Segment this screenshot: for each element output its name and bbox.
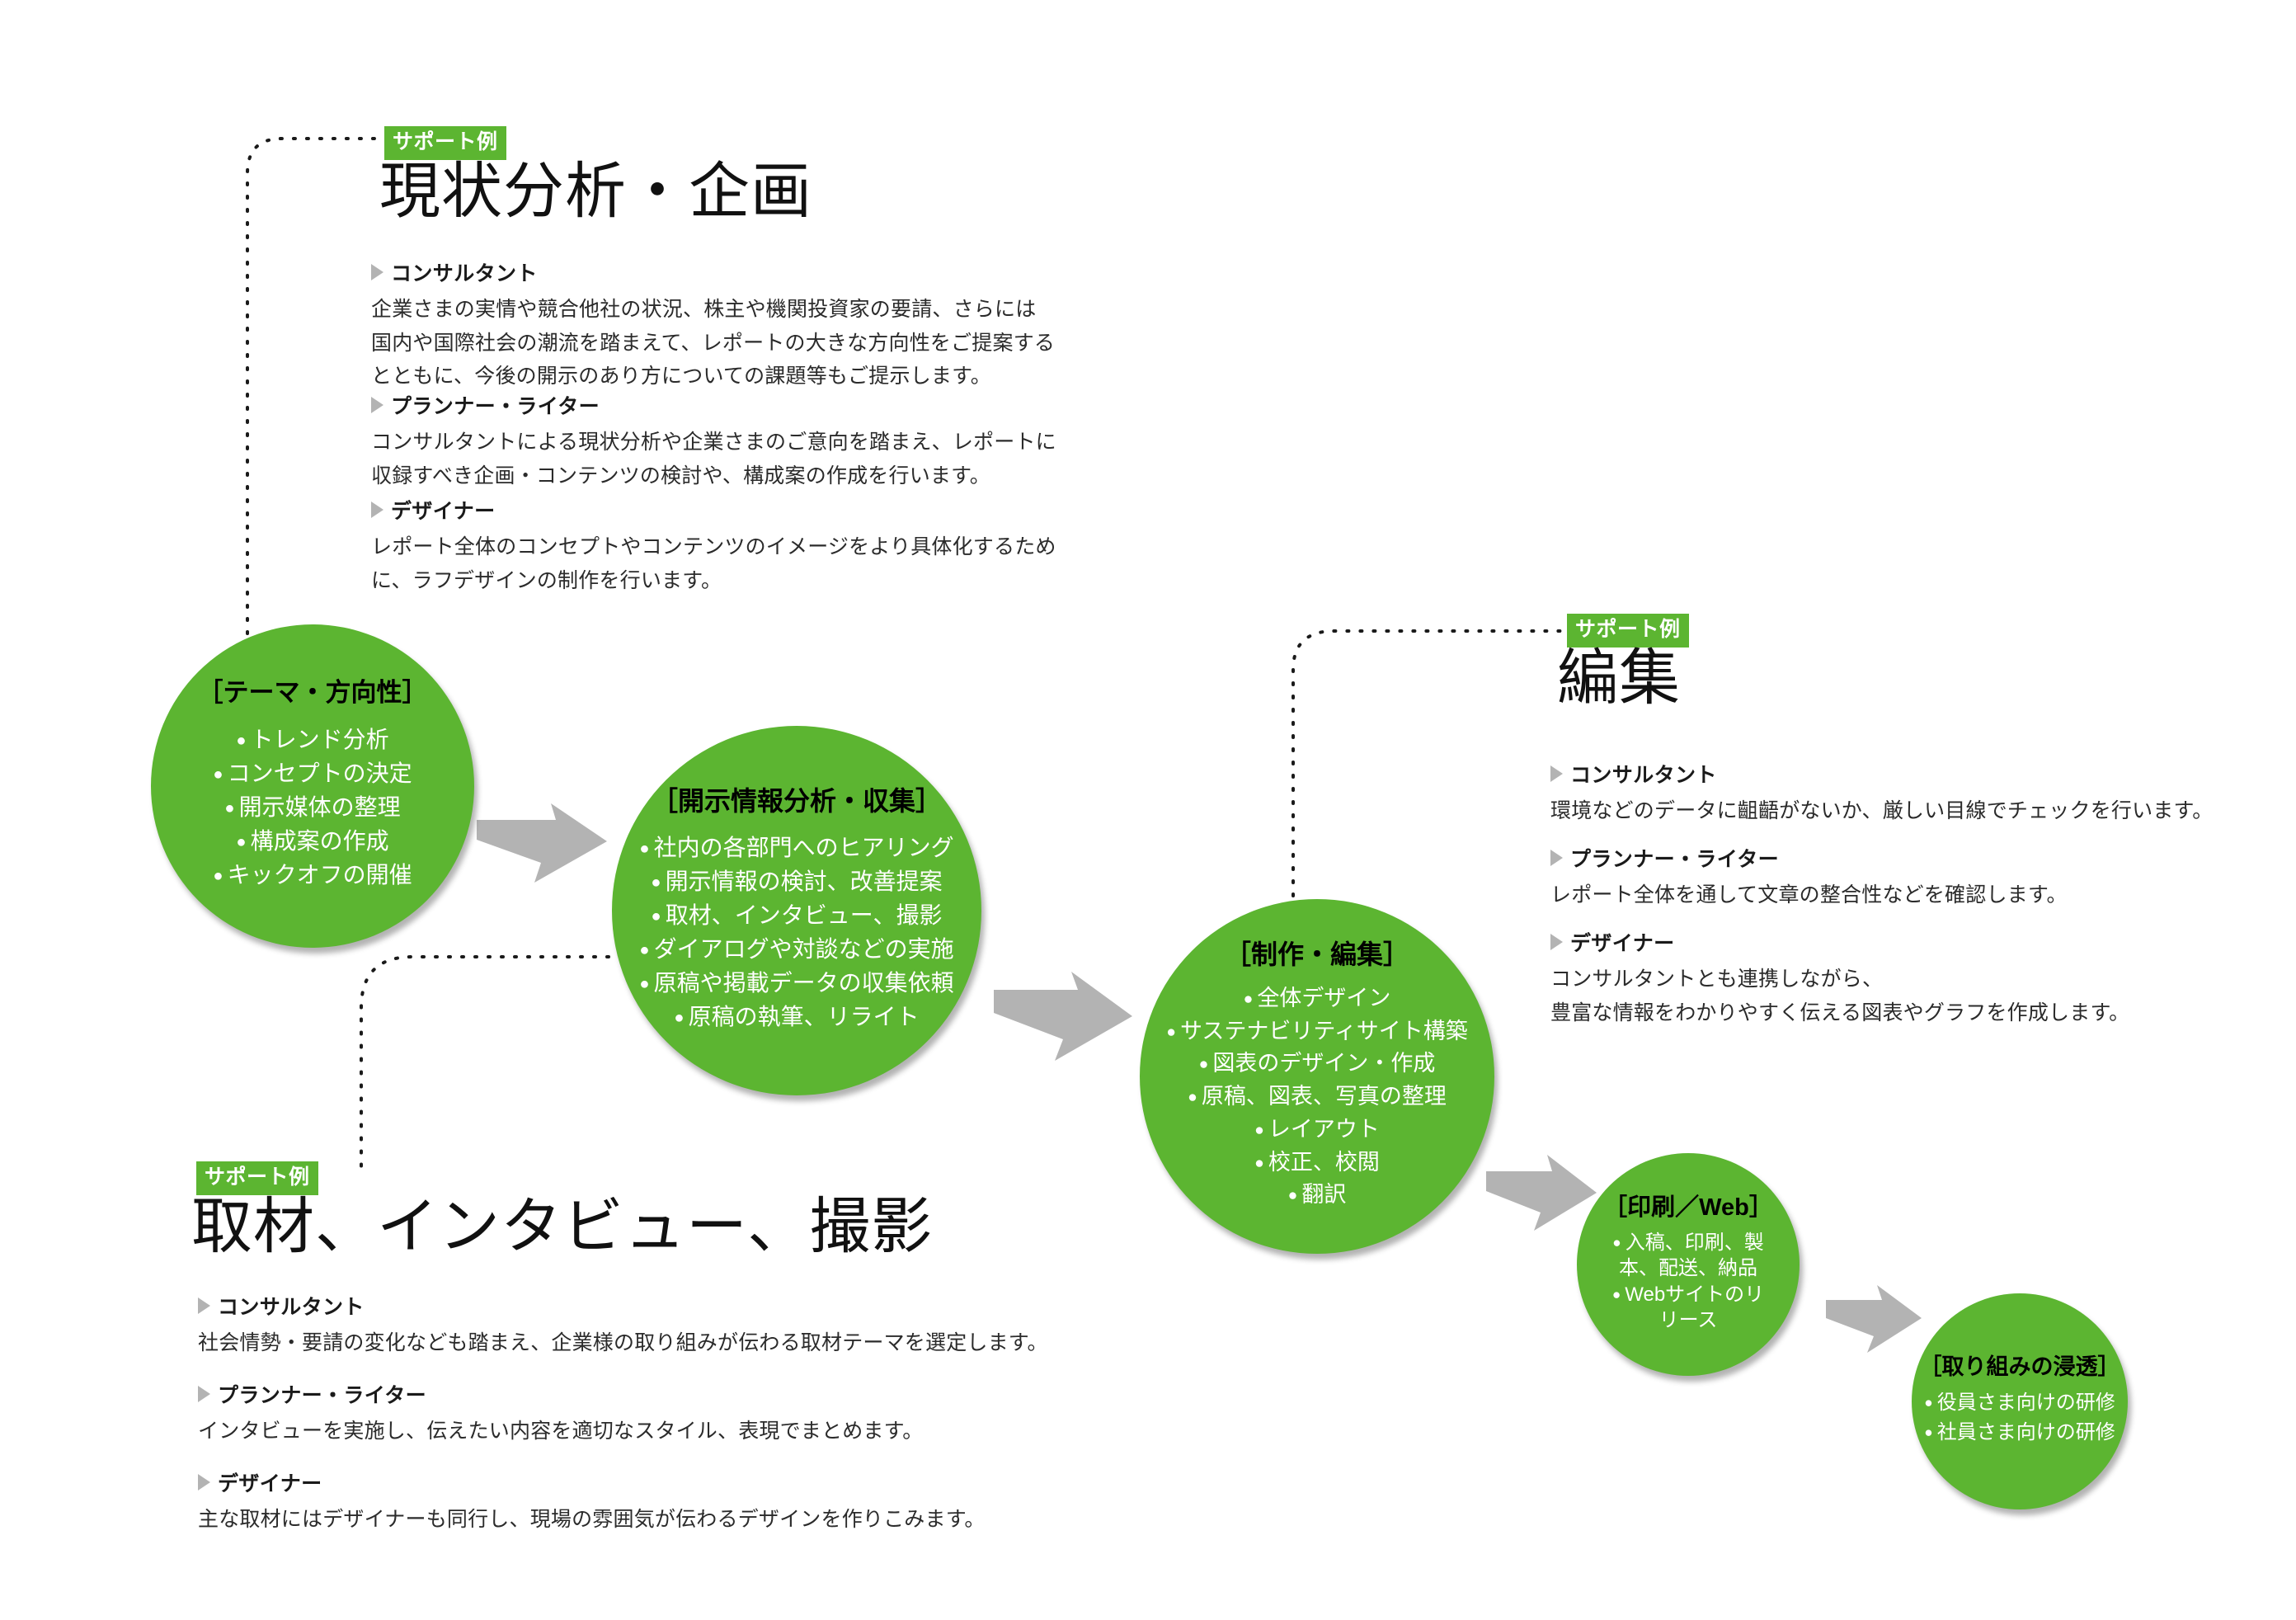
role-description: 環境などのデータに齟齬がないか、厳しい目線でチェックを行います。 — [1550, 794, 2210, 828]
connector-editing — [1293, 631, 1567, 922]
flow-step-theme[interactable]: ［テーマ・方向性］ トレンド分析 コンセプトの決定 開示媒体の整理 構成案の作成… — [151, 624, 474, 948]
role-line: 社会情勢・要請の変化なども踏まえ、企業様の取り組みが伝わる取材テーマを選定します… — [198, 1326, 1023, 1360]
flow-item: キックオフの開催 — [213, 859, 412, 892]
role-line: 主な取材にはデザイナーも同行し、現場の雰囲気が伝わるデザインを作りこみます。 — [198, 1503, 1023, 1537]
triangle-bullet-icon — [198, 1474, 210, 1490]
role-description: コンサルタントとも連携しながら、 豊富な情報をわかりやすく伝える図表やグラフを作… — [1550, 963, 2210, 1029]
role-line: 収録すべき企画・コンテンツの検討や、構成案の作成を行います。 — [371, 459, 1047, 493]
role-description: 社会情勢・要請の変化なども踏まえ、企業様の取り組みが伝わる取材テーマを選定します… — [198, 1326, 1023, 1360]
role-line: レポート全体を通して文章の整合性などを確認します。 — [1550, 878, 2210, 912]
role-description: 主な取材にはデザイナーも同行し、現場の雰囲気が伝わるデザインを作りこみます。 — [198, 1503, 1023, 1537]
role-block-analysis-planner: プランナー・ライター コンサルタントによる現状分析や企業さまのご意向を踏まえ、レ… — [371, 390, 1047, 492]
triangle-bullet-icon — [1550, 934, 1563, 950]
flow-step-production[interactable]: ［制作・編集］ 全体デザイン サステナビリティサイト構築 図表のデザイン・作成 … — [1140, 899, 1494, 1254]
arrow-disclosure-to-production — [992, 962, 1149, 1077]
role-description: レポート全体のコンセプトやコンテンツのイメージをより具体化するため に、ラフデザ… — [371, 530, 1047, 597]
flow-item: 校正、校閲 — [1166, 1147, 1468, 1180]
flow-step-items: 全体デザイン サステナビリティサイト構築 図表のデザイン・作成 原稿、図表、写真… — [1166, 982, 1468, 1212]
section-title-interview: 取材、インタビュー、撮影 — [191, 1196, 933, 1257]
role-block-editing-designer: デザイナー コンサルタントとも連携しながら、 豊富な情報をわかりやすく伝える図表… — [1550, 927, 2210, 1029]
role-line: レポート全体のコンセプトやコンテンツのイメージをより具体化するため — [371, 530, 1047, 564]
flow-item: 社員さま向けの研修 — [1924, 1418, 2115, 1448]
flow-step-print-web[interactable]: ［印刷／Web］ 入稿、印刷、製本、配送、納品 Webサイトのリリース — [1577, 1153, 1800, 1376]
role-line: 企業さまの実情や競合他社の状況、株主や機関投資家の要請、さらには — [371, 293, 1047, 327]
section-title-analysis: 現状分析・企画 — [379, 161, 812, 222]
role-name: プランナー・ライター — [218, 1379, 426, 1409]
support-badge-analysis: サポート例 — [384, 126, 506, 160]
flow-step-title: ［制作・編集］ — [1225, 941, 1409, 968]
flow-item: Webサイトのリリース — [1606, 1282, 1771, 1333]
role-name: デザイナー — [218, 1467, 322, 1497]
flow-item: 取材、インタビュー、撮影 — [639, 898, 953, 932]
diagram-canvas: サポート例 現状分析・企画 コンサルタント 企業さまの実情や競合他社の状況、株主… — [0, 0, 2296, 1620]
role-line: コンサルタントによる現状分析や企業さまのご意向を踏まえ、レポートに — [371, 426, 1047, 459]
role-name: デザイナー — [391, 495, 496, 525]
role-description: インタビューを実施し、伝えたい内容を適切なスタイル、表現でまとめます。 — [198, 1415, 1023, 1448]
triangle-bullet-icon — [371, 502, 383, 518]
flow-item: ダイアログや対談などの実施 — [639, 932, 953, 966]
role-heading: デザイナー — [198, 1467, 1023, 1497]
triangle-bullet-icon — [1550, 850, 1563, 866]
role-name: コンサルタント — [391, 257, 538, 287]
triangle-bullet-icon — [371, 264, 383, 280]
support-badge-interview: サポート例 — [196, 1161, 318, 1195]
flow-item: 翻訳 — [1166, 1179, 1468, 1212]
role-heading: プランナー・ライター — [371, 390, 1047, 420]
role-description: レポート全体を通して文章の整合性などを確認します。 — [1550, 878, 2210, 912]
role-block-interview-consultant: コンサルタント 社会情勢・要請の変化なども踏まえ、企業様の取り組みが伝わる取材テ… — [198, 1291, 1023, 1360]
role-name: デザイナー — [1570, 927, 1675, 957]
role-heading: プランナー・ライター — [198, 1379, 1023, 1409]
triangle-bullet-icon — [371, 397, 383, 413]
flow-item: 入稿、印刷、製本、配送、納品 — [1606, 1230, 1771, 1281]
role-heading: デザイナー — [371, 495, 1047, 525]
flow-item: サステナビリティサイト構築 — [1166, 1015, 1468, 1048]
arrow-print-to-penetration — [1824, 1280, 1931, 1366]
flow-item: 構成案の作成 — [213, 825, 412, 859]
flow-step-title: ［取り組みの浸透］ — [1920, 1356, 2120, 1378]
flow-item: トレンド分析 — [213, 723, 412, 757]
flow-step-title: ［テーマ・方向性］ — [198, 680, 428, 705]
flow-item: 原稿や掲載データの収集依頼 — [639, 966, 953, 1000]
role-block-interview-designer: デザイナー 主な取材にはデザイナーも同行し、現場の雰囲気が伝わるデザインを作りこ… — [198, 1467, 1023, 1537]
role-description: 企業さまの実情や競合他社の状況、株主や機関投資家の要請、さらには 国内や国際社会… — [371, 293, 1047, 393]
role-block-editing-consultant: コンサルタント 環境などのデータに齟齬がないか、厳しい目線でチェックを行います。 — [1550, 759, 2210, 828]
flow-item: 開示媒体の整理 — [213, 791, 412, 825]
role-heading: プランナー・ライター — [1550, 843, 2210, 873]
flow-item: 原稿、図表、写真の整理 — [1166, 1081, 1468, 1114]
flow-step-penetration[interactable]: ［取り組みの浸透］ 役員さま向けの研修 社員さま向けの研修 — [1912, 1293, 2128, 1509]
arrow-theme-to-disclosure — [475, 790, 623, 899]
role-line: 豊富な情報をわかりやすく伝える図表やグラフを作成します。 — [1550, 996, 2210, 1030]
flow-step-items: 入稿、印刷、製本、配送、納品 Webサイトのリリース — [1606, 1230, 1771, 1333]
triangle-bullet-icon — [198, 1297, 210, 1314]
role-name: プランナー・ライター — [391, 390, 600, 420]
flow-step-items: 社内の各部門へのヒアリング 開示情報の検討、改善提案 取材、インタビュー、撮影 … — [639, 831, 953, 1034]
flow-step-items: 役員さま向けの研修 社員さま向けの研修 — [1924, 1388, 2115, 1448]
role-heading: コンサルタント — [371, 257, 1047, 287]
flow-item: 図表のデザイン・作成 — [1166, 1048, 1468, 1081]
flow-item: 社内の各部門へのヒアリング — [639, 831, 953, 864]
role-name: コンサルタント — [218, 1291, 365, 1321]
role-block-analysis-designer: デザイナー レポート全体のコンセプトやコンテンツのイメージをより具体化するため … — [371, 495, 1047, 597]
flow-item: 開示情報の検討、改善提案 — [639, 864, 953, 898]
flow-item: 役員さま向けの研修 — [1924, 1388, 2115, 1418]
role-heading: デザイナー — [1550, 927, 2210, 957]
flow-step-title: ［印刷／Web］ — [1603, 1196, 1773, 1220]
flow-item: レイアウト — [1166, 1114, 1468, 1147]
triangle-bullet-icon — [1550, 765, 1563, 782]
role-line: 環境などのデータに齟齬がないか、厳しい目線でチェックを行います。 — [1550, 794, 2210, 828]
role-line: コンサルタントとも連携しながら、 — [1550, 963, 2210, 996]
flow-step-disclosure[interactable]: ［開示情報分析・収集］ 社内の各部門へのヒアリング 開示情報の検討、改善提案 取… — [612, 726, 981, 1095]
role-line: に、ラフデザインの制作を行います。 — [371, 564, 1047, 598]
role-block-interview-planner: プランナー・ライター インタビューを実施し、伝えたい内容を適切なスタイル、表現で… — [198, 1379, 1023, 1448]
role-name: コンサルタント — [1570, 759, 1717, 789]
flow-item: 全体デザイン — [1166, 982, 1468, 1015]
flow-item: コンセプトの決定 — [213, 757, 412, 791]
section-title-editing: 編集 — [1557, 648, 1681, 709]
triangle-bullet-icon — [198, 1386, 210, 1402]
role-heading: コンサルタント — [198, 1291, 1023, 1321]
support-badge-editing: サポート例 — [1567, 614, 1689, 648]
flow-step-items: トレンド分析 コンセプトの決定 開示媒体の整理 構成案の作成 キックオフの開催 — [213, 723, 412, 892]
role-name: プランナー・ライター — [1570, 843, 1779, 873]
connector-analysis — [247, 139, 384, 660]
flow-item: 原稿の執筆、リライト — [639, 1000, 953, 1034]
role-block-editing-planner: プランナー・ライター レポート全体を通して文章の整合性などを確認します。 — [1550, 843, 2210, 912]
role-line: インタビューを実施し、伝えたい内容を適切なスタイル、表現でまとめます。 — [198, 1415, 1023, 1448]
role-line: とともに、今後の開示のあり方についての課題等もご提示します。 — [371, 360, 1047, 393]
flow-step-title: ［開示情報分析・収集］ — [652, 788, 942, 814]
role-line: 国内や国際社会の潮流を踏まえて、レポートの大きな方向性をご提案する — [371, 327, 1047, 360]
role-heading: コンサルタント — [1550, 759, 2210, 789]
role-description: コンサルタントによる現状分析や企業さまのご意向を踏まえ、レポートに 収録すべき企… — [371, 426, 1047, 492]
role-block-analysis-consultant: コンサルタント 企業さまの実情や競合他社の状況、株主や機関投資家の要請、さらには… — [371, 257, 1047, 393]
